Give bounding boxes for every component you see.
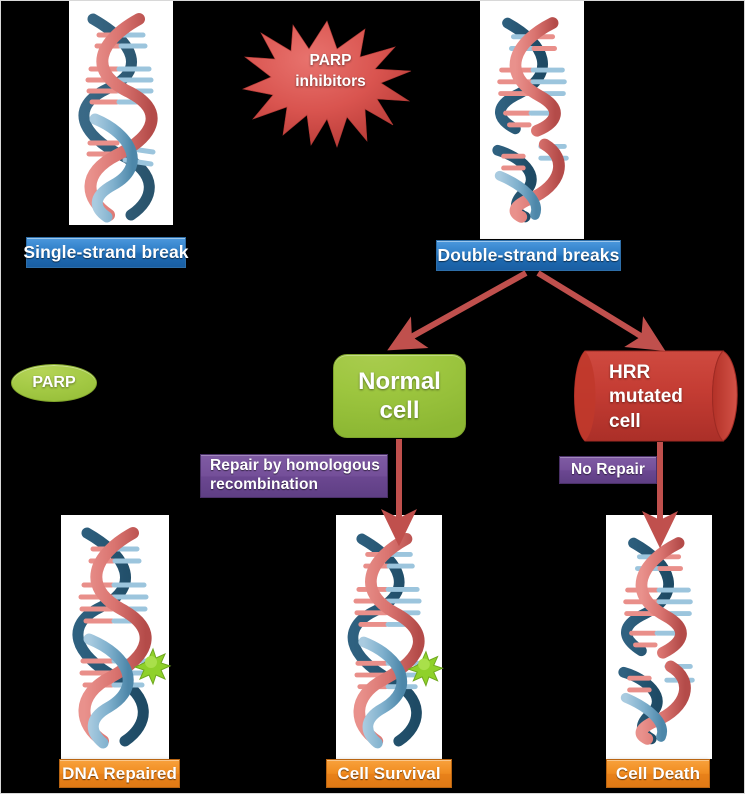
arrow-dsb-to-hrr-cell <box>538 273 649 341</box>
figure-canvas: PARP inhibitors Single-strand break Doub… <box>0 0 745 794</box>
arrows-layer <box>1 1 745 794</box>
arrow-dsb-to-normal-cell <box>404 273 526 341</box>
